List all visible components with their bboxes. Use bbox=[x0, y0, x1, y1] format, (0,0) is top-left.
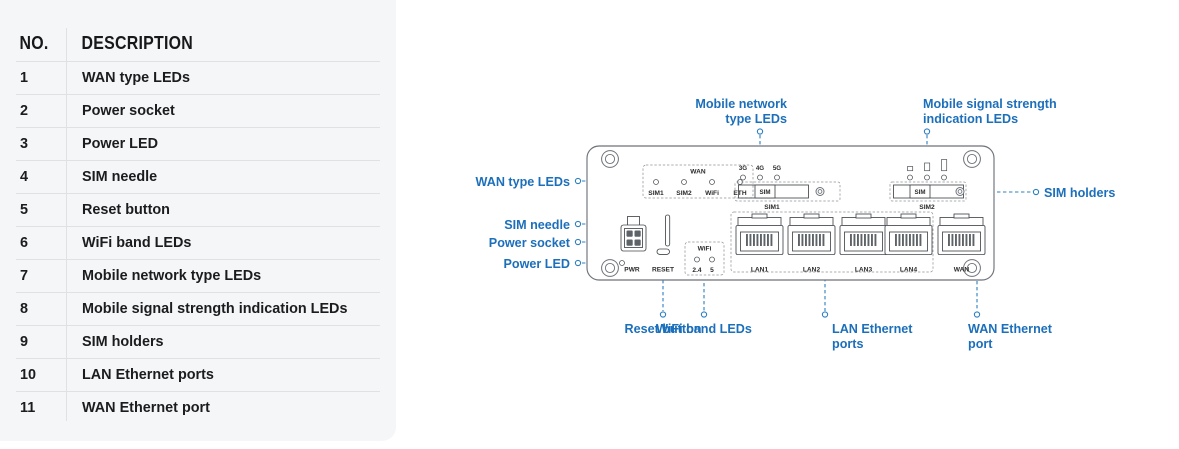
table-row: 11WAN Ethernet port bbox=[16, 391, 380, 424]
label-led-4g: 4G bbox=[756, 165, 764, 172]
row-description: Power LED bbox=[66, 127, 380, 160]
signal-bar-icon-medium bbox=[925, 163, 930, 171]
column-header-no: NO. bbox=[16, 26, 59, 61]
callout-sim-holders: SIM holders bbox=[1044, 186, 1115, 200]
row-description: WiFi band LEDs bbox=[66, 226, 380, 259]
row-description: WAN type LEDs bbox=[66, 61, 380, 94]
table-row: 10LAN Ethernet ports bbox=[16, 358, 380, 391]
row-number: 6 bbox=[16, 226, 66, 259]
led-wifi-24 bbox=[695, 257, 700, 262]
label-wan-led-sim2: SIM2 bbox=[676, 190, 692, 197]
table-row: 1WAN type LEDs bbox=[16, 61, 380, 94]
callout-mobile-network-type-leds-line2: type LEDs bbox=[725, 112, 787, 126]
led-wan-sim1 bbox=[654, 180, 659, 185]
callout-wan-ethernet-port-line2: port bbox=[968, 337, 993, 351]
mounting-hole-bottom-left bbox=[602, 260, 619, 277]
callout-wan-ethernet-port-line1: WAN Ethernet bbox=[968, 322, 1053, 336]
table-row: 2Power socket bbox=[16, 94, 380, 127]
label-port-lan1: LAN1 bbox=[751, 267, 769, 274]
label-reset: RESET bbox=[652, 267, 674, 274]
label-wifi-band-5: 5 bbox=[710, 267, 714, 274]
row-number: 8 bbox=[16, 292, 66, 325]
label-pwr: PWR bbox=[624, 267, 640, 274]
led-3g bbox=[741, 175, 746, 180]
callout-power-led: Power LED bbox=[504, 257, 570, 271]
label-wan-led-eth: ETH bbox=[733, 190, 746, 197]
device-diagram: WAN SIM1 SIM2 WiFi ETH PWR RESET bbox=[400, 0, 1179, 449]
row-description: SIM needle bbox=[66, 160, 380, 193]
label-port-lan3: LAN3 bbox=[855, 267, 873, 274]
led-wan-wifi bbox=[710, 180, 715, 185]
sim2-caption: SIM2 bbox=[919, 204, 935, 211]
row-description: LAN Ethernet ports bbox=[66, 358, 380, 391]
label-port-lan4: LAN4 bbox=[900, 267, 918, 274]
row-description: SIM holders bbox=[66, 325, 380, 358]
led-wifi-5 bbox=[710, 257, 715, 262]
row-number: 7 bbox=[16, 259, 66, 292]
legend-panel: NO. DESCRIPTION 1WAN type LEDs2Power soc… bbox=[0, 0, 396, 441]
row-number: 9 bbox=[16, 325, 66, 358]
sim-needle bbox=[666, 215, 670, 246]
callout-mobile-signal-strength-line2: indication LEDs bbox=[923, 112, 1018, 126]
legend-table: NO. DESCRIPTION 1WAN type LEDs2Power soc… bbox=[16, 26, 380, 424]
signal-bar-icon-low bbox=[908, 167, 913, 171]
row-number: 11 bbox=[16, 391, 66, 424]
table-row: 4SIM needle bbox=[16, 160, 380, 193]
label-led-5g: 5G bbox=[773, 165, 781, 172]
label-port-wan: WAN bbox=[954, 267, 970, 274]
mounting-hole-top-right bbox=[964, 151, 981, 168]
table-row: 7Mobile network type LEDs bbox=[16, 259, 380, 292]
table-row: 9SIM holders bbox=[16, 325, 380, 358]
callout-sim-needle: SIM needle bbox=[504, 218, 570, 232]
wifi-group-title: WiFi bbox=[698, 246, 712, 253]
callout-lan-ethernet-ports-line1: LAN Ethernet bbox=[832, 322, 913, 336]
callout-lan-ethernet-ports-line2: ports bbox=[832, 337, 863, 351]
led-signal-medium bbox=[925, 175, 930, 180]
label-port-lan2: LAN2 bbox=[803, 267, 821, 274]
callout-mobile-signal-strength-line1: Mobile signal strength bbox=[923, 97, 1057, 111]
table-header-row: NO. DESCRIPTION bbox=[16, 26, 380, 61]
led-signal-high bbox=[942, 175, 947, 180]
label-wifi-band-24: 2.4 bbox=[692, 267, 701, 274]
label-wan-led-wifi: WiFi bbox=[705, 190, 719, 197]
sim2-slot-face-label: SIM bbox=[914, 189, 925, 196]
row-number: 3 bbox=[16, 127, 66, 160]
row-number: 2 bbox=[16, 94, 66, 127]
led-signal-low bbox=[908, 175, 913, 180]
callout-wifi-band-leds: WiFi band LEDs bbox=[656, 322, 752, 336]
row-description: Power socket bbox=[66, 94, 380, 127]
row-number: 5 bbox=[16, 193, 66, 226]
router-illustration: WAN SIM1 SIM2 WiFi ETH PWR RESET bbox=[587, 146, 994, 280]
table-row: 5Reset button bbox=[16, 193, 380, 226]
legend-table-body: 1WAN type LEDs2Power socket3Power LED4SI… bbox=[16, 61, 380, 424]
mounting-hole-top-left bbox=[602, 151, 619, 168]
led-4g bbox=[758, 175, 763, 180]
signal-bar-icon-high bbox=[942, 160, 947, 171]
column-header-description: DESCRIPTION bbox=[66, 26, 336, 61]
row-description: Reset button bbox=[66, 193, 380, 226]
table-row: 8Mobile signal strength indication LEDs bbox=[16, 292, 380, 325]
led-5g bbox=[775, 175, 780, 180]
row-number: 10 bbox=[16, 358, 66, 391]
callout-wan-type-leds: WAN type LEDs bbox=[476, 175, 570, 189]
wan-group-title: WAN bbox=[690, 169, 706, 176]
sim1-slot-face-label: SIM bbox=[759, 189, 770, 196]
label-led-3g: 3G bbox=[739, 165, 747, 172]
row-description: WAN Ethernet port bbox=[66, 391, 380, 424]
row-description: Mobile signal strength indication LEDs bbox=[66, 292, 380, 325]
reset-button bbox=[657, 249, 670, 254]
row-number: 1 bbox=[16, 61, 66, 94]
row-description: Mobile network type LEDs bbox=[66, 259, 380, 292]
table-row: 3Power LED bbox=[16, 127, 380, 160]
row-number: 4 bbox=[16, 160, 66, 193]
label-wan-led-sim1: SIM1 bbox=[648, 190, 664, 197]
table-row: 6WiFi band LEDs bbox=[16, 226, 380, 259]
callout-mobile-network-type-leds-line1: Mobile network bbox=[695, 97, 788, 111]
callout-power-socket: Power socket bbox=[489, 236, 571, 250]
led-wan-sim2 bbox=[682, 180, 687, 185]
sim1-caption: SIM1 bbox=[764, 204, 780, 211]
led-power bbox=[620, 261, 625, 266]
